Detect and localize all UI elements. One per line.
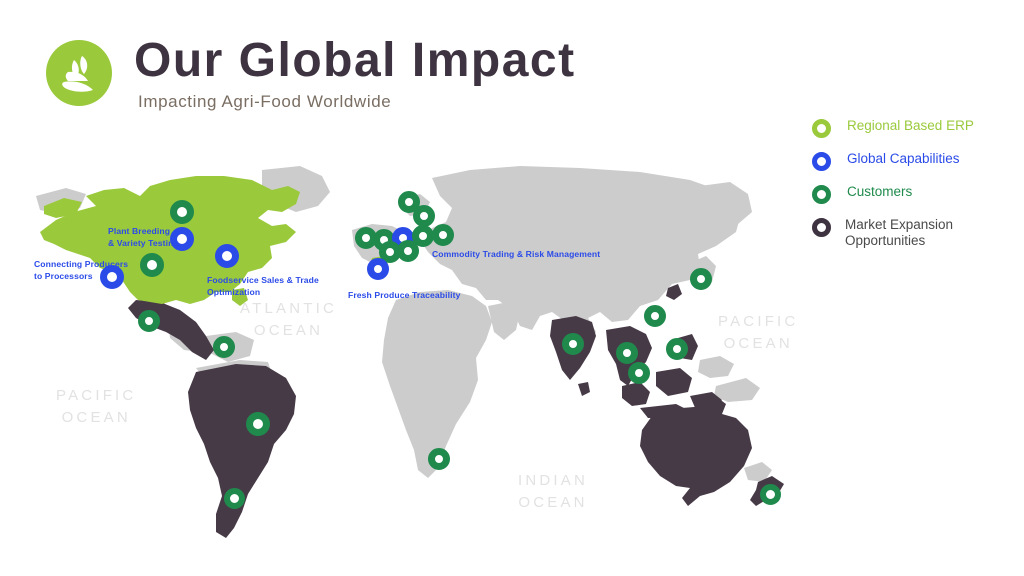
marker-us-east-foodservice[interactable]	[215, 244, 239, 268]
marker-malaysia[interactable]	[628, 362, 650, 384]
marker-us-central-customer[interactable]	[140, 253, 164, 277]
annotation-line: Foodservice Sales & Trade	[207, 275, 319, 287]
legend-item-label: Market Expansion Opportunities	[845, 217, 1012, 249]
marker-mexico[interactable]	[138, 310, 160, 332]
marker-alps[interactable]	[397, 240, 419, 262]
ocean-label: ATLANTICOCEAN	[240, 298, 337, 342]
annotation-line: Optimization	[207, 287, 319, 299]
map-annotation-label: Commodity Trading & Risk Management	[432, 249, 600, 261]
map-annotation-label: Plant Breeding& Variety Testing	[108, 226, 179, 249]
ring-marker-icon	[812, 119, 831, 138]
marker-china-east[interactable]	[644, 305, 666, 327]
map-annotation-label: Connecting Producersto Processors	[34, 259, 128, 282]
ocean-label: PACIFICOCEAN	[56, 385, 136, 429]
marker-iberia[interactable]	[367, 258, 389, 280]
marker-philippines[interactable]	[666, 338, 688, 360]
marker-india[interactable]	[562, 333, 584, 355]
marker-ukraine[interactable]	[432, 224, 454, 246]
leaf-plant-icon	[46, 40, 112, 106]
legend-item-global-capabilities[interactable]: Global Capabilities	[812, 151, 1012, 171]
page-subtitle: Impacting Agri-Food Worldwide	[138, 92, 576, 112]
legend-item-label: Customers	[847, 184, 912, 200]
legend-item-label: Regional Based ERP	[847, 118, 974, 134]
marker-indochina[interactable]	[616, 342, 638, 364]
ocean-label: PACIFICOCEAN	[718, 311, 798, 355]
annotation-line: & Variety Testing	[108, 238, 179, 250]
marker-south-africa[interactable]	[428, 448, 450, 470]
marker-baltics[interactable]	[413, 205, 435, 227]
map-annotation-label: Fresh Produce Traceability	[348, 290, 460, 302]
ring-marker-icon	[812, 218, 831, 237]
ocean-label-line2: OCEAN	[718, 333, 798, 355]
ocean-label: INDIANOCEAN	[518, 470, 588, 514]
map-legend: Regional Based ERP Global Capabilities C…	[812, 118, 1012, 262]
page-header: Our Global Impact Impacting Agri-Food Wo…	[46, 36, 576, 112]
annotation-line: Connecting Producers	[34, 259, 128, 271]
legend-item-regional-based-erp[interactable]: Regional Based ERP	[812, 118, 1012, 138]
annotation-line: to Processors	[34, 271, 128, 283]
ocean-label-line2: OCEAN	[518, 492, 588, 514]
marker-brazil[interactable]	[246, 412, 270, 436]
title-block: Our Global Impact Impacting Agri-Food Wo…	[134, 36, 576, 112]
legend-item-label: Global Capabilities	[847, 151, 960, 167]
ring-marker-icon	[812, 185, 831, 204]
ocean-label-line2: OCEAN	[240, 320, 337, 342]
marker-new-zealand[interactable]	[760, 484, 781, 505]
legend-item-market-expansion-opportunities[interactable]: Market Expansion Opportunities	[812, 217, 1012, 249]
page-title: Our Global Impact	[134, 36, 576, 86]
brand-logo	[46, 40, 112, 106]
map-annotation-label: Foodservice Sales & TradeOptimization	[207, 275, 319, 298]
ring-marker-icon	[812, 152, 831, 171]
annotation-line: Commodity Trading & Risk Management	[432, 249, 600, 261]
annotation-line: Plant Breeding	[108, 226, 179, 238]
marker-chile[interactable]	[224, 488, 245, 509]
slide-canvas: Our Global Impact Impacting Agri-Food Wo…	[0, 0, 1024, 576]
marker-canada-central[interactable]	[170, 200, 194, 224]
marker-caribbean[interactable]	[213, 336, 235, 358]
ocean-label-line2: OCEAN	[56, 407, 136, 429]
marker-japan[interactable]	[690, 268, 712, 290]
legend-item-customers[interactable]: Customers	[812, 184, 1012, 204]
annotation-line: Fresh Produce Traceability	[348, 290, 460, 302]
